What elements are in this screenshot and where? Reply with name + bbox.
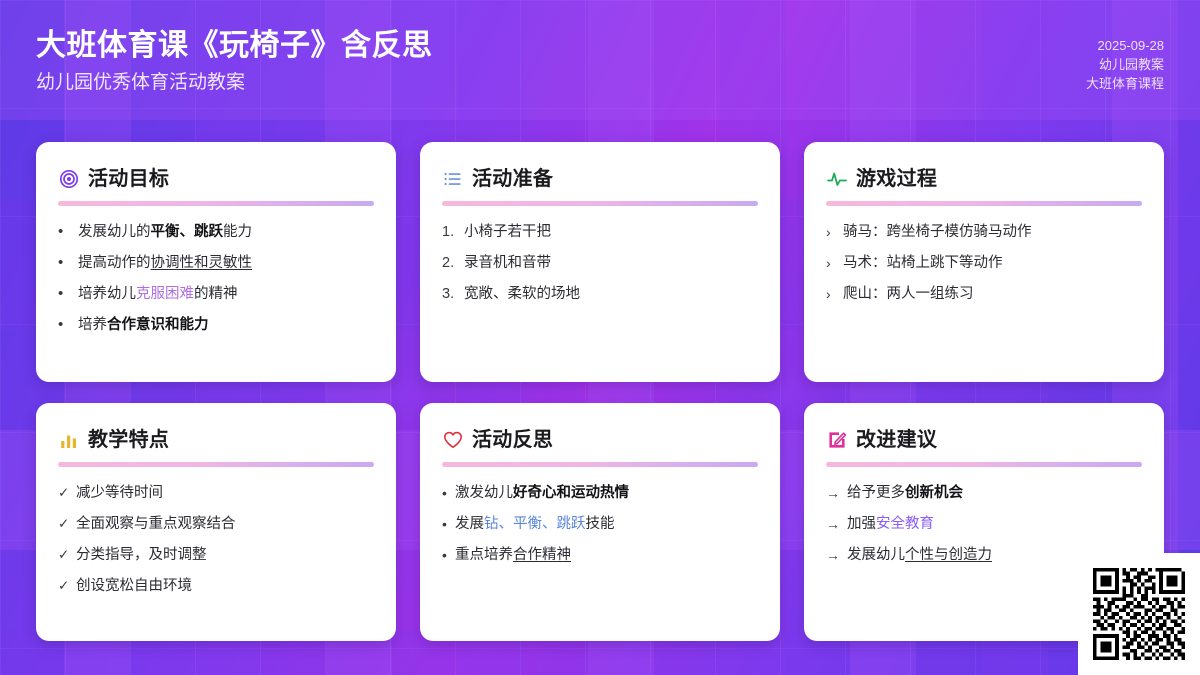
bar-chart-icon — [58, 430, 79, 451]
list-item: ›骑马：跨坐椅子模仿骑马动作 — [826, 222, 1142, 242]
text-segment: 培养 — [78, 317, 107, 333]
list-icon — [442, 169, 463, 190]
list-marker-chevron: › — [826, 284, 843, 304]
header-meta-course: 大班体育课程 — [1086, 74, 1164, 93]
card-title: 教学特点 — [88, 427, 169, 453]
card-header: 游戏过程 — [826, 164, 1142, 194]
list-item: 1.小椅子若干把 — [442, 222, 758, 242]
list-item: •培养幼儿克服困难的精神 — [58, 284, 374, 304]
cards-grid: 活动目标•发展幼儿的平衡、跳跃能力•提高动作的协调性和灵敏性•培养幼儿克服困难的… — [36, 142, 1164, 642]
card-preparation: 活动准备1.小椅子若干把2.录音机和音带3.宽敞、柔软的场地 — [420, 142, 780, 382]
card-title: 活动反思 — [472, 427, 553, 453]
card-reflection: 活动反思•激发幼儿好奇心和运动热情•发展钻、平衡、跳跃技能•重点培养合作精神 — [420, 403, 780, 641]
text-segment: 发展幼儿 — [847, 547, 905, 563]
text-segment: 好奇心和运动热情 — [513, 485, 629, 501]
text-segment: 宽敞、柔软的场地 — [464, 286, 580, 302]
text-segment: 全面观察与重点观察结合 — [76, 516, 236, 532]
text-segment: 爬山：两人一组练习 — [843, 286, 974, 302]
list-marker-number: 1. — [442, 222, 464, 242]
text-segment: 录音机和音带 — [464, 255, 551, 271]
card-header: 教学特点 — [58, 425, 374, 455]
card-body: ›骑马：跨坐椅子模仿骑马动作›马术：站椅上跳下等动作›爬山：两人一组练习 — [826, 222, 1142, 304]
list-marker-dot: • — [58, 222, 78, 242]
list-item: •培养合作意识和能力 — [58, 315, 374, 335]
card-game-process: 游戏过程›骑马：跨坐椅子模仿骑马动作›马术：站椅上跳下等动作›爬山：两人一组练习 — [804, 142, 1164, 382]
text-segment: 激发幼儿 — [455, 485, 513, 501]
list-item: ›马术：站椅上跳下等动作 — [826, 253, 1142, 273]
list-marker-smalldot: • — [442, 483, 455, 503]
text-segment: 合作精神 — [513, 547, 571, 563]
list-marker-number: 3. — [442, 284, 464, 304]
list-marker-smalldot: • — [442, 545, 455, 565]
list-item: ›爬山：两人一组练习 — [826, 284, 1142, 304]
list-item-text: 分类指导，及时调整 — [76, 545, 374, 565]
list-marker-chevron: › — [826, 253, 843, 273]
list-item-text: 爬山：两人一组练习 — [843, 284, 1142, 304]
list-marker-arrow: → — [826, 545, 847, 565]
list-marker-dot: • — [58, 253, 78, 273]
list-marker-chevron: › — [826, 222, 843, 242]
card-title: 活动准备 — [472, 166, 553, 192]
card-header: 活动目标 — [58, 164, 374, 194]
list-item-text: 培养幼儿克服困难的精神 — [78, 284, 374, 304]
card-objectives: 活动目标•发展幼儿的平衡、跳跃能力•提高动作的协调性和灵敏性•培养幼儿克服困难的… — [36, 142, 396, 382]
header-meta-category: 幼儿园教案 — [1086, 55, 1164, 74]
list-item-text: 发展钻、平衡、跳跃技能 — [455, 514, 758, 534]
text-segment: 技能 — [586, 516, 615, 532]
text-segment: 的精神 — [194, 286, 238, 302]
list-item-text: 录音机和音带 — [464, 253, 758, 273]
list-item: •发展幼儿的平衡、跳跃能力 — [58, 222, 374, 242]
header-date: 2025-09-28 — [1086, 36, 1164, 55]
card-body: •激发幼儿好奇心和运动热情•发展钻、平衡、跳跃技能•重点培养合作精神 — [442, 483, 758, 565]
header-left-block: 大班体育课《玩椅子》含反思 幼儿园优秀体育活动教案 — [36, 26, 433, 98]
qr-code[interactable] — [1093, 568, 1185, 660]
list-item-text: 激发幼儿好奇心和运动热情 — [455, 483, 758, 503]
card-header: 改进建议 — [826, 425, 1142, 455]
list-marker-dot: • — [58, 284, 78, 304]
text-segment: 安全教育 — [876, 516, 934, 532]
text-segment: 创新机会 — [905, 485, 963, 501]
list-item-text: 培养合作意识和能力 — [78, 315, 374, 335]
card-body: 1.小椅子若干把2.录音机和音带3.宽敞、柔软的场地 — [442, 222, 758, 304]
list-item-text: 马术：站椅上跳下等动作 — [843, 253, 1142, 273]
card-underline — [826, 201, 1142, 206]
text-segment: 分类指导，及时调整 — [76, 547, 207, 563]
card-underline — [442, 462, 758, 467]
list-item: •提高动作的协调性和灵敏性 — [58, 253, 374, 273]
list-marker-check: ✓ — [58, 514, 76, 534]
card-title: 游戏过程 — [856, 166, 937, 192]
target-icon — [58, 169, 79, 190]
text-segment: 发展 — [455, 516, 484, 532]
text-segment: 合作意识和能力 — [107, 317, 209, 333]
card-title: 改进建议 — [856, 427, 937, 453]
card-underline — [58, 462, 374, 467]
list-item: ✓创设宽松自由环境 — [58, 576, 374, 596]
card-teaching-features: 教学特点✓减少等待时间✓全面观察与重点观察结合✓分类指导，及时调整✓创设宽松自由… — [36, 403, 396, 641]
page-subtitle: 幼儿园优秀体育活动教案 — [36, 68, 433, 98]
heart-icon — [442, 430, 463, 451]
text-segment: 马术：站椅上跳下等动作 — [843, 255, 1003, 271]
list-marker-smalldot: • — [442, 514, 455, 534]
card-header: 活动反思 — [442, 425, 758, 455]
text-segment: 提高动作的 — [78, 255, 151, 271]
card-body: •发展幼儿的平衡、跳跃能力•提高动作的协调性和灵敏性•培养幼儿克服困难的精神•培… — [58, 222, 374, 335]
list-marker-check: ✓ — [58, 576, 76, 596]
card-underline — [826, 462, 1142, 467]
list-item-text: 骑马：跨坐椅子模仿骑马动作 — [843, 222, 1142, 242]
text-segment: 平衡、跳跃 — [151, 224, 224, 240]
list-marker-check: ✓ — [58, 483, 76, 503]
list-item: ✓减少等待时间 — [58, 483, 374, 503]
list-item-text: 提高动作的协调性和灵敏性 — [78, 253, 374, 273]
text-segment: 小椅子若干把 — [464, 224, 551, 240]
list-marker-dot: • — [58, 315, 78, 335]
list-marker-number: 2. — [442, 253, 464, 273]
text-segment: 协调性和灵敏性 — [151, 255, 253, 271]
text-segment: 克服困难 — [136, 286, 194, 302]
text-segment: 能力 — [223, 224, 252, 240]
text-segment: 培养幼儿 — [78, 286, 136, 302]
list-item-text: 宽敞、柔软的场地 — [464, 284, 758, 304]
text-segment: 钻、平衡、跳跃 — [484, 516, 586, 532]
list-item-text: 重点培养合作精神 — [455, 545, 758, 565]
edit-icon — [826, 430, 847, 451]
list-item-text: 全面观察与重点观察结合 — [76, 514, 374, 534]
list-item-text: 发展幼儿的平衡、跳跃能力 — [78, 222, 374, 242]
page-title: 大班体育课《玩椅子》含反思 — [36, 26, 433, 66]
card-body: ✓减少等待时间✓全面观察与重点观察结合✓分类指导，及时调整✓创设宽松自由环境 — [58, 483, 374, 596]
text-segment: 减少等待时间 — [76, 485, 163, 501]
list-item: 3.宽敞、柔软的场地 — [442, 284, 758, 304]
text-segment: 重点培养 — [455, 547, 513, 563]
list-marker-check: ✓ — [58, 545, 76, 565]
list-item: →给予更多创新机会 — [826, 483, 1142, 503]
card-underline — [442, 201, 758, 206]
text-segment: 加强 — [847, 516, 876, 532]
card-underline — [58, 201, 374, 206]
list-item: •发展钻、平衡、跳跃技能 — [442, 514, 758, 534]
list-item-text: 给予更多创新机会 — [847, 483, 1142, 503]
list-item: •重点培养合作精神 — [442, 545, 758, 565]
list-marker-arrow: → — [826, 514, 847, 534]
list-item-text: 小椅子若干把 — [464, 222, 758, 242]
card-title: 活动目标 — [88, 166, 169, 192]
qr-code-panel[interactable] — [1078, 553, 1200, 675]
text-segment: 骑马：跨坐椅子模仿骑马动作 — [843, 224, 1032, 240]
list-item: ✓全面观察与重点观察结合 — [58, 514, 374, 534]
list-item-text: 加强安全教育 — [847, 514, 1142, 534]
text-segment: 个性与创造力 — [905, 547, 992, 563]
card-header: 活动准备 — [442, 164, 758, 194]
list-item-text: 创设宽松自由环境 — [76, 576, 374, 596]
header-meta-block: 2025-09-28 幼儿园教案 大班体育课程 — [1086, 36, 1164, 93]
text-segment: 创设宽松自由环境 — [76, 578, 192, 594]
list-item: 2.录音机和音带 — [442, 253, 758, 273]
list-item-text: 减少等待时间 — [76, 483, 374, 503]
text-segment: 发展幼儿的 — [78, 224, 151, 240]
page-header: 大班体育课《玩椅子》含反思 幼儿园优秀体育活动教案 2025-09-28 幼儿园… — [0, 0, 1200, 122]
pulse-icon — [826, 169, 847, 190]
list-marker-arrow: → — [826, 483, 847, 503]
list-item: →加强安全教育 — [826, 514, 1142, 534]
text-segment: 给予更多 — [847, 485, 905, 501]
list-item: •激发幼儿好奇心和运动热情 — [442, 483, 758, 503]
list-item: ✓分类指导，及时调整 — [58, 545, 374, 565]
